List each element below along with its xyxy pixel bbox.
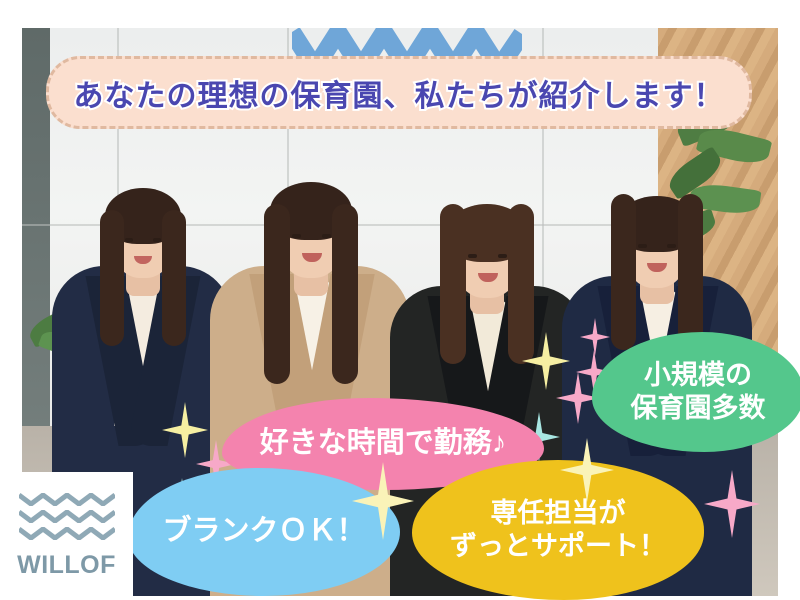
bubble-line-1: 好きな時間で勤務♪ bbox=[260, 426, 507, 461]
brand-name: WILLOF bbox=[17, 551, 116, 580]
zigzag-wave-icon bbox=[19, 493, 115, 506]
brand-logo-card: WILLOF bbox=[0, 472, 133, 600]
bubble-line-1: 小規模の bbox=[631, 359, 766, 392]
bubble-line-2: ずっとサポート！ bbox=[450, 530, 666, 563]
bubble-line-2: 保育園多数 bbox=[631, 392, 766, 425]
poster-canvas: WILLOF bbox=[0, 0, 800, 600]
zigzag-wave-icon bbox=[19, 510, 115, 523]
bubble-line-1: ブランクＯＫ！ bbox=[162, 514, 365, 549]
bubble-blank-ok[interactable]: ブランクＯＫ！ bbox=[128, 468, 400, 596]
bubble-line-1: 専任担当が bbox=[450, 497, 666, 530]
bubble-dedicated-support[interactable]: 専任担当が ずっとサポート！ bbox=[412, 460, 704, 600]
headline-text: あなたの理想の保育園、私たちが紹介します！ bbox=[74, 71, 725, 115]
zigzag-wave-icon bbox=[19, 527, 115, 540]
headline-banner: あなたの理想の保育園、私たちが紹介します！ bbox=[46, 56, 752, 129]
